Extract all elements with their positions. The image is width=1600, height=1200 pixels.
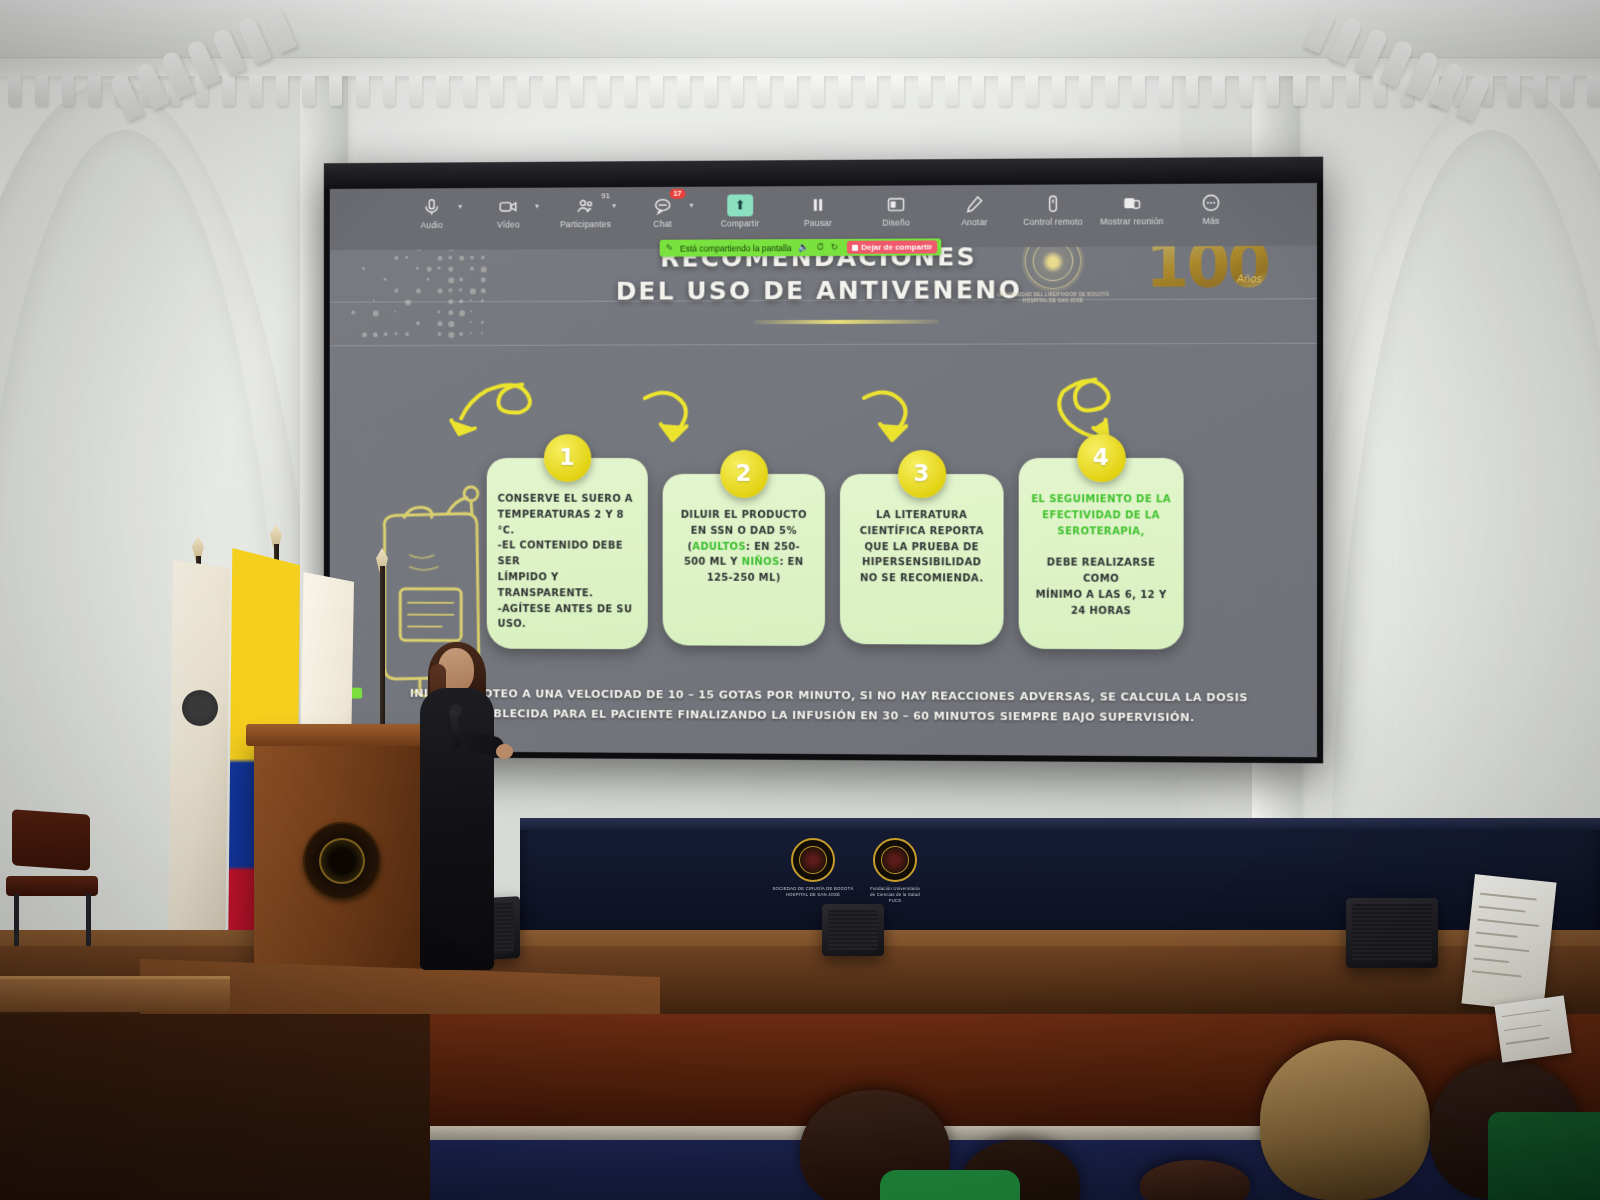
dentil bbox=[517, 76, 530, 106]
dentil bbox=[222, 76, 235, 106]
halftone-dot bbox=[351, 311, 355, 315]
toolbar-item-vdeo[interactable]: ▾Vídeo bbox=[470, 194, 547, 230]
card-number-badge: 3 bbox=[898, 450, 946, 498]
halftone-dot bbox=[481, 332, 483, 334]
zoom-share-status-bar[interactable]: ✎ Está compartiendo la pantalla 🔈 ⏱ ↻ De… bbox=[660, 238, 942, 256]
dentil bbox=[1560, 76, 1573, 106]
halftone-dot bbox=[373, 310, 379, 316]
dentil bbox=[838, 76, 851, 106]
podium-emblem-icon bbox=[303, 822, 381, 900]
curly-arrow-1 bbox=[451, 384, 530, 434]
halftone-dot bbox=[448, 332, 454, 338]
card-body: DILUIR EL PRODUCTOEN SSN O DAD 5%(ADULTO… bbox=[674, 508, 814, 587]
seal-caption: UNIVERSIDAD DEL LIBERTADOR DE BOGOTÁ HOS… bbox=[993, 292, 1114, 305]
card-line: EN SSN O DAD 5% bbox=[674, 524, 814, 540]
hospital-seal-inner bbox=[799, 846, 827, 874]
pause-icon[interactable] bbox=[779, 192, 857, 218]
presenter bbox=[408, 648, 504, 970]
card-line: SEROTERAPIA, bbox=[1030, 524, 1173, 540]
chair-leg bbox=[86, 894, 91, 946]
curly-arrow-3 bbox=[864, 392, 906, 440]
toolbar-item-participantes[interactable]: 91▾Participantes bbox=[547, 193, 624, 229]
card-line: 125-250 ML) bbox=[674, 571, 814, 587]
table-seal-2: Fundación Universitaria de Ciencias de l… bbox=[840, 838, 950, 904]
dentil bbox=[1293, 76, 1306, 106]
audience-shoulder bbox=[880, 1170, 1020, 1200]
toolbar-item-label: Compartir bbox=[701, 218, 779, 228]
dentil bbox=[1507, 76, 1520, 106]
title-underline bbox=[754, 320, 939, 325]
card-number-badge: 4 bbox=[1077, 434, 1126, 482]
footer-accent-marker bbox=[351, 688, 362, 699]
toolbar-item-label: Chat bbox=[624, 219, 701, 229]
dentil bbox=[1239, 76, 1252, 106]
card-line: 24 HORAS bbox=[1030, 603, 1173, 619]
halftone-dot bbox=[373, 332, 378, 337]
chat-unread-badge: 17 bbox=[669, 189, 685, 199]
chevron-down-icon[interactable]: ▾ bbox=[612, 201, 616, 210]
dentil bbox=[918, 76, 931, 106]
chair-back bbox=[12, 809, 90, 870]
dentil bbox=[1159, 76, 1172, 106]
stop-share-button[interactable]: Dejar de compartir bbox=[847, 240, 937, 253]
card-body: EL SEGUIMIENTO DE LAEFECTIVIDAD DE LASER… bbox=[1030, 492, 1173, 619]
dentil bbox=[972, 76, 985, 106]
curly-arrow-4 bbox=[1059, 379, 1108, 437]
dentil bbox=[1320, 76, 1333, 106]
dentil bbox=[383, 76, 396, 106]
share-status-text: Está compartiendo la pantalla bbox=[680, 243, 791, 254]
card-line: (ADULTOS: EN 250- bbox=[674, 539, 814, 555]
dentil bbox=[1346, 76, 1359, 106]
dentil bbox=[865, 76, 878, 106]
dentil bbox=[945, 76, 958, 106]
toolbar-item-label: Más bbox=[1171, 216, 1250, 227]
monitor-grill bbox=[1352, 904, 1432, 962]
halftone-dot bbox=[438, 310, 441, 313]
dentil bbox=[1132, 76, 1145, 106]
curly-arrow-2 bbox=[645, 393, 687, 440]
card-line: -AGÍTESE ANTES DE SU bbox=[498, 602, 637, 618]
toolbar-item-anotar[interactable]: Anotar bbox=[935, 191, 1013, 228]
chair-seat bbox=[6, 876, 98, 896]
dentil bbox=[1266, 76, 1279, 106]
dentil bbox=[891, 76, 904, 106]
audience-head bbox=[1260, 1040, 1430, 1200]
stage-table-skirt: SOCIEDAD DE CIRUGÍA DE BOGOTÁ HOSPITAL D… bbox=[520, 818, 1600, 946]
recommendation-card-4: 4EL SEGUIMIENTO DE LAEFECTIVIDAD DE LASE… bbox=[1019, 458, 1184, 650]
toolbar-item-label: Vídeo bbox=[470, 219, 547, 229]
dentil bbox=[35, 76, 48, 106]
handout-paper bbox=[1461, 874, 1556, 1012]
toolbar-item-label: Pausar bbox=[779, 218, 857, 228]
chevron-down-icon[interactable]: ▾ bbox=[458, 202, 462, 211]
card-line: DEBE REALIZARSE COMO bbox=[1030, 556, 1173, 588]
halftone-dot bbox=[470, 310, 472, 312]
card-line: DILUIR EL PRODUCTO bbox=[674, 508, 814, 524]
dentil bbox=[757, 76, 770, 106]
dentil bbox=[1105, 76, 1118, 106]
card-number-badge: 1 bbox=[543, 434, 590, 482]
slide-footer: INICIA EL GOTEO A UNA VELOCIDAD DE 10 – … bbox=[383, 684, 1277, 728]
podium bbox=[254, 736, 430, 971]
card-line: NO SE RECOMIENDA. bbox=[851, 571, 993, 587]
dentil bbox=[1079, 76, 1092, 106]
hospital-seal-icon bbox=[791, 838, 835, 882]
dentil bbox=[570, 76, 583, 106]
dentil bbox=[1534, 76, 1547, 106]
stage-monitor-right bbox=[1346, 898, 1438, 968]
recommendation-cards: 1CONSERVE EL SUERO ATEMPERATURAS 2 Y 8 °… bbox=[330, 436, 1317, 669]
dentil bbox=[1587, 76, 1600, 106]
halftone-dot bbox=[481, 321, 484, 324]
dentil bbox=[88, 76, 101, 106]
pause-circle-icon[interactable]: ⏱ bbox=[817, 242, 824, 253]
flag-left-seal-icon bbox=[182, 690, 218, 726]
card-line: EL SEGUIMIENTO DE LA bbox=[1030, 492, 1173, 508]
toolbar-item-label: Anotar bbox=[935, 217, 1013, 227]
dentil bbox=[1025, 76, 1038, 106]
card-body: LA LITERATURACIENTÍFICA REPORTAQUE LA PR… bbox=[851, 508, 993, 587]
card-line: 500 ML Y NIÑOS: EN bbox=[674, 555, 814, 571]
halftone-dot bbox=[394, 310, 396, 312]
card-body: CONSERVE EL SUERO ATEMPERATURAS 2 Y 8 °C… bbox=[498, 492, 637, 634]
layout-icon[interactable] bbox=[857, 191, 935, 217]
fucs-seal-icon bbox=[873, 838, 917, 882]
halftone-dot bbox=[394, 332, 397, 335]
dentil bbox=[811, 76, 824, 106]
chair-leg bbox=[14, 894, 19, 946]
dentil bbox=[356, 76, 369, 106]
card-line: QUE LA PRUEBA DE bbox=[851, 540, 993, 556]
pencil-icon[interactable] bbox=[935, 191, 1013, 218]
share-screen-icon[interactable]: ⬆ bbox=[701, 192, 779, 218]
halftone-dot bbox=[416, 321, 420, 325]
dentil bbox=[677, 76, 690, 106]
dentil bbox=[784, 76, 797, 106]
audience-shoulder bbox=[1488, 1112, 1600, 1200]
dentil bbox=[624, 76, 637, 106]
toolbar-item-mostrar-reunin[interactable]: Mostrar reunión bbox=[1092, 190, 1171, 227]
stop-share-label: Dejar de compartir bbox=[861, 242, 932, 251]
auditorium-presentation-photo: RECOMENDACIONES DEL USO DE ANTIVENENO UN… bbox=[0, 0, 1600, 1200]
toolbar-item-label: Audio bbox=[393, 220, 470, 230]
toolbar-item-compartir[interactable]: ⬆Compartir bbox=[701, 192, 779, 228]
presenter-hand bbox=[496, 744, 513, 759]
table-seal-2-caption: Fundación Universitaria de Ciencias de l… bbox=[840, 886, 950, 904]
toolbar-item-label: Control remoto bbox=[1014, 217, 1093, 227]
halftone-dot bbox=[362, 332, 366, 337]
speaker-icon[interactable]: 🔈 bbox=[799, 242, 810, 253]
dentil bbox=[329, 76, 342, 106]
refresh-icon[interactable]: ↻ bbox=[831, 242, 839, 253]
halftone-dot bbox=[459, 310, 465, 316]
stage-chair bbox=[6, 812, 102, 942]
dentil bbox=[998, 76, 1011, 106]
toolbar-item-audio[interactable]: ▾Audio bbox=[393, 194, 470, 230]
toolbar-item-control-remoto[interactable]: Control remoto bbox=[1014, 190, 1093, 227]
stage-monitor-center bbox=[822, 904, 884, 956]
toolbar-item-ms[interactable]: Más bbox=[1171, 189, 1250, 226]
chevron-down-icon[interactable]: ▾ bbox=[689, 201, 693, 210]
toolbar-item-label: Mostrar reunión bbox=[1092, 216, 1171, 226]
card-line: LA LITERATURA bbox=[851, 508, 993, 524]
card-line: USO. bbox=[498, 617, 637, 633]
dentil bbox=[1212, 76, 1225, 106]
toolbar-item-label: Participantes bbox=[547, 219, 624, 229]
step-1 bbox=[0, 976, 230, 1012]
card-line: CONSERVE EL SUERO A bbox=[498, 492, 637, 508]
dentil bbox=[731, 76, 744, 106]
card-line bbox=[1030, 540, 1173, 556]
dentil-molding bbox=[0, 76, 1600, 110]
recommendation-card-1: 1CONSERVE EL SUERO ATEMPERATURAS 2 Y 8 °… bbox=[487, 458, 648, 649]
institutional-flag-left bbox=[168, 560, 230, 958]
halftone-dot bbox=[459, 332, 463, 336]
toolbar-item-pausar[interactable]: Pausar bbox=[779, 192, 857, 228]
card-line: CIENTÍFICA REPORTA bbox=[851, 524, 993, 540]
halftone-dot bbox=[470, 321, 472, 323]
halftone-dot bbox=[438, 321, 443, 326]
dentil bbox=[463, 76, 476, 106]
dentil bbox=[543, 76, 556, 106]
pencil-icon[interactable]: ✎ bbox=[666, 243, 673, 254]
halftone-dot bbox=[470, 332, 472, 334]
dentil bbox=[436, 76, 449, 106]
dentil bbox=[1186, 76, 1199, 106]
dentil bbox=[8, 76, 21, 106]
stop-square-icon bbox=[852, 244, 858, 250]
recommendation-card-2: 2DILUIR EL PRODUCTOEN SSN O DAD 5%(ADULT… bbox=[663, 474, 825, 646]
card-line: LÍMPIDO Y bbox=[498, 570, 637, 586]
card-line: EFECTIVIDAD DE LA bbox=[1030, 508, 1173, 524]
dentil bbox=[704, 76, 717, 106]
halftone-dot bbox=[438, 332, 442, 336]
dentil bbox=[62, 76, 75, 106]
dentil bbox=[650, 76, 663, 106]
card-line: TRANSPARENTE. bbox=[498, 586, 637, 602]
recommendation-card-3: 3LA LITERATURACIENTÍFICA REPORTAQUE LA P… bbox=[840, 474, 1004, 645]
seal-laurel-icon bbox=[1042, 251, 1064, 273]
halftone-dot bbox=[448, 310, 453, 315]
halftone-dot bbox=[448, 321, 454, 327]
participants-count: 91 bbox=[601, 191, 610, 200]
share-screen-highlight[interactable]: ⬆ bbox=[727, 194, 753, 216]
chevron-down-icon[interactable]: ▾ bbox=[535, 202, 539, 211]
toolbar-item-label: Diseño bbox=[857, 217, 935, 227]
show-meeting-icon[interactable] bbox=[1092, 190, 1171, 217]
remote-control-icon[interactable] bbox=[1014, 190, 1093, 217]
halftone-dot bbox=[405, 332, 409, 336]
card-line: -EL CONTENIDO DEBE SER bbox=[498, 539, 637, 571]
card-line: TEMPERATURAS 2 Y 8 °C. bbox=[498, 507, 637, 539]
dentil bbox=[490, 76, 503, 106]
card-number-badge: 2 bbox=[720, 450, 768, 498]
dentil bbox=[249, 76, 262, 106]
ellipsis-icon[interactable] bbox=[1171, 189, 1250, 216]
toolbar-item-diseo[interactable]: Diseño bbox=[857, 191, 935, 227]
card-line: MÍNIMO A LAS 6, 12 Y bbox=[1030, 587, 1173, 603]
handout-paper bbox=[1494, 995, 1571, 1062]
dentil bbox=[302, 76, 315, 106]
toolbar-item-chat[interactable]: 17▾Chat bbox=[624, 193, 701, 229]
dentil bbox=[276, 76, 289, 106]
dentil bbox=[409, 76, 422, 106]
fucs-seal-inner bbox=[881, 846, 909, 874]
dentil bbox=[1052, 76, 1065, 106]
centenary-sublabel: Años bbox=[1237, 274, 1262, 285]
halftone-dot bbox=[384, 332, 388, 336]
card-line: HIPERSENSIBILIDAD bbox=[851, 555, 993, 571]
monitor-grill bbox=[828, 910, 878, 950]
dentil bbox=[597, 76, 610, 106]
